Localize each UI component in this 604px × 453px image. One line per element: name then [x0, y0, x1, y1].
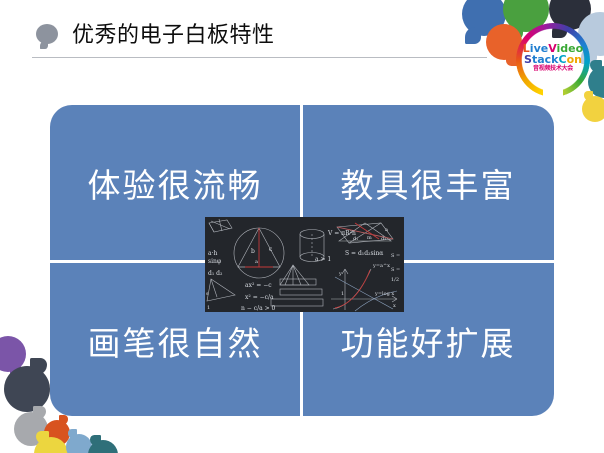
- svg-text:d₁: d₁: [353, 236, 358, 242]
- quadrant-label: 体验很流畅: [88, 159, 263, 207]
- svg-text:1: 1: [207, 305, 210, 311]
- svg-text:m: m: [367, 235, 372, 241]
- slide-header: 优秀的电子白板特性: [0, 0, 604, 62]
- speech-bubble-icon: [36, 24, 58, 44]
- logo-subtitle: 音视频技术大会: [516, 66, 590, 72]
- quadrant-label: 画笔很自然: [88, 317, 263, 365]
- svg-text:S =: S =: [391, 267, 400, 273]
- svg-text:x: x: [393, 303, 396, 309]
- svg-text:d₂: d₂: [381, 236, 386, 242]
- bubble-left-dark: [4, 366, 50, 412]
- blackboard-math-photo: V = πR²h S = d₁d₂sinα ax² = −c x² = −c/a…: [205, 217, 404, 312]
- svg-text:y: y: [338, 271, 342, 277]
- svg-text:a > 1: a > 1: [315, 256, 331, 263]
- bubble-bottom-blue: [66, 434, 92, 453]
- svg-text:1/2: 1/2: [391, 277, 399, 283]
- bubble-left-gray: [14, 412, 48, 446]
- svg-text:d₁ d₂: d₁ d₂: [208, 270, 223, 277]
- svg-text:y=a^x: y=a^x: [372, 262, 390, 269]
- svg-text:S = d₁d₂sinα: S = d₁d₂sinα: [345, 250, 383, 257]
- bubble-bottom-yellow: [34, 437, 68, 453]
- livevideostackcon-logo: LiveVideo StackCon 音视频技术大会: [516, 23, 590, 97]
- svg-text:S =: S =: [391, 253, 400, 259]
- svg-text:V = πR²h: V = πR²h: [327, 230, 356, 237]
- bubble-right-yellow: [582, 96, 604, 122]
- svg-text:y=log x: y=log x: [374, 291, 394, 297]
- blackboard-artwork: V = πR²h S = d₁d₂sinα ax² = −c x² = −c/a…: [205, 217, 404, 312]
- svg-text:x² = −c/a: x² = −c/a: [245, 294, 274, 301]
- logo-line-2: StackCon: [516, 54, 590, 65]
- presentation-slide: 优秀的电子白板特性 LiveVideo StackCon 音视频技术大会 体验很…: [0, 0, 604, 453]
- svg-text:n − c/a > 0: n − c/a > 0: [241, 305, 276, 312]
- svg-text:ax² = −c: ax² = −c: [245, 282, 272, 289]
- logo-ring-gap: [543, 83, 563, 101]
- quadrant-label: 功能好扩展: [341, 317, 516, 365]
- quadrant-label: 教具很丰富: [341, 159, 516, 207]
- svg-text:1: 1: [341, 291, 344, 297]
- bubble-right-teal: [588, 66, 604, 98]
- logo-text: LiveVideo StackCon 音视频技术大会: [516, 43, 590, 73]
- svg-text:a·h: a·h: [208, 250, 217, 257]
- svg-text:s: s: [206, 291, 209, 297]
- svg-text:b: b: [251, 248, 255, 255]
- svg-text:a: a: [385, 227, 388, 233]
- svg-text:sinφ: sinφ: [208, 258, 221, 265]
- title-divider: [32, 57, 487, 58]
- bubble-bottom-teal: [88, 440, 118, 453]
- bubble-bottom-orange: [44, 420, 70, 446]
- bubble-left-purple: [0, 336, 26, 372]
- page-title: 优秀的电子白板特性: [72, 17, 275, 49]
- svg-text:a: a: [255, 259, 258, 265]
